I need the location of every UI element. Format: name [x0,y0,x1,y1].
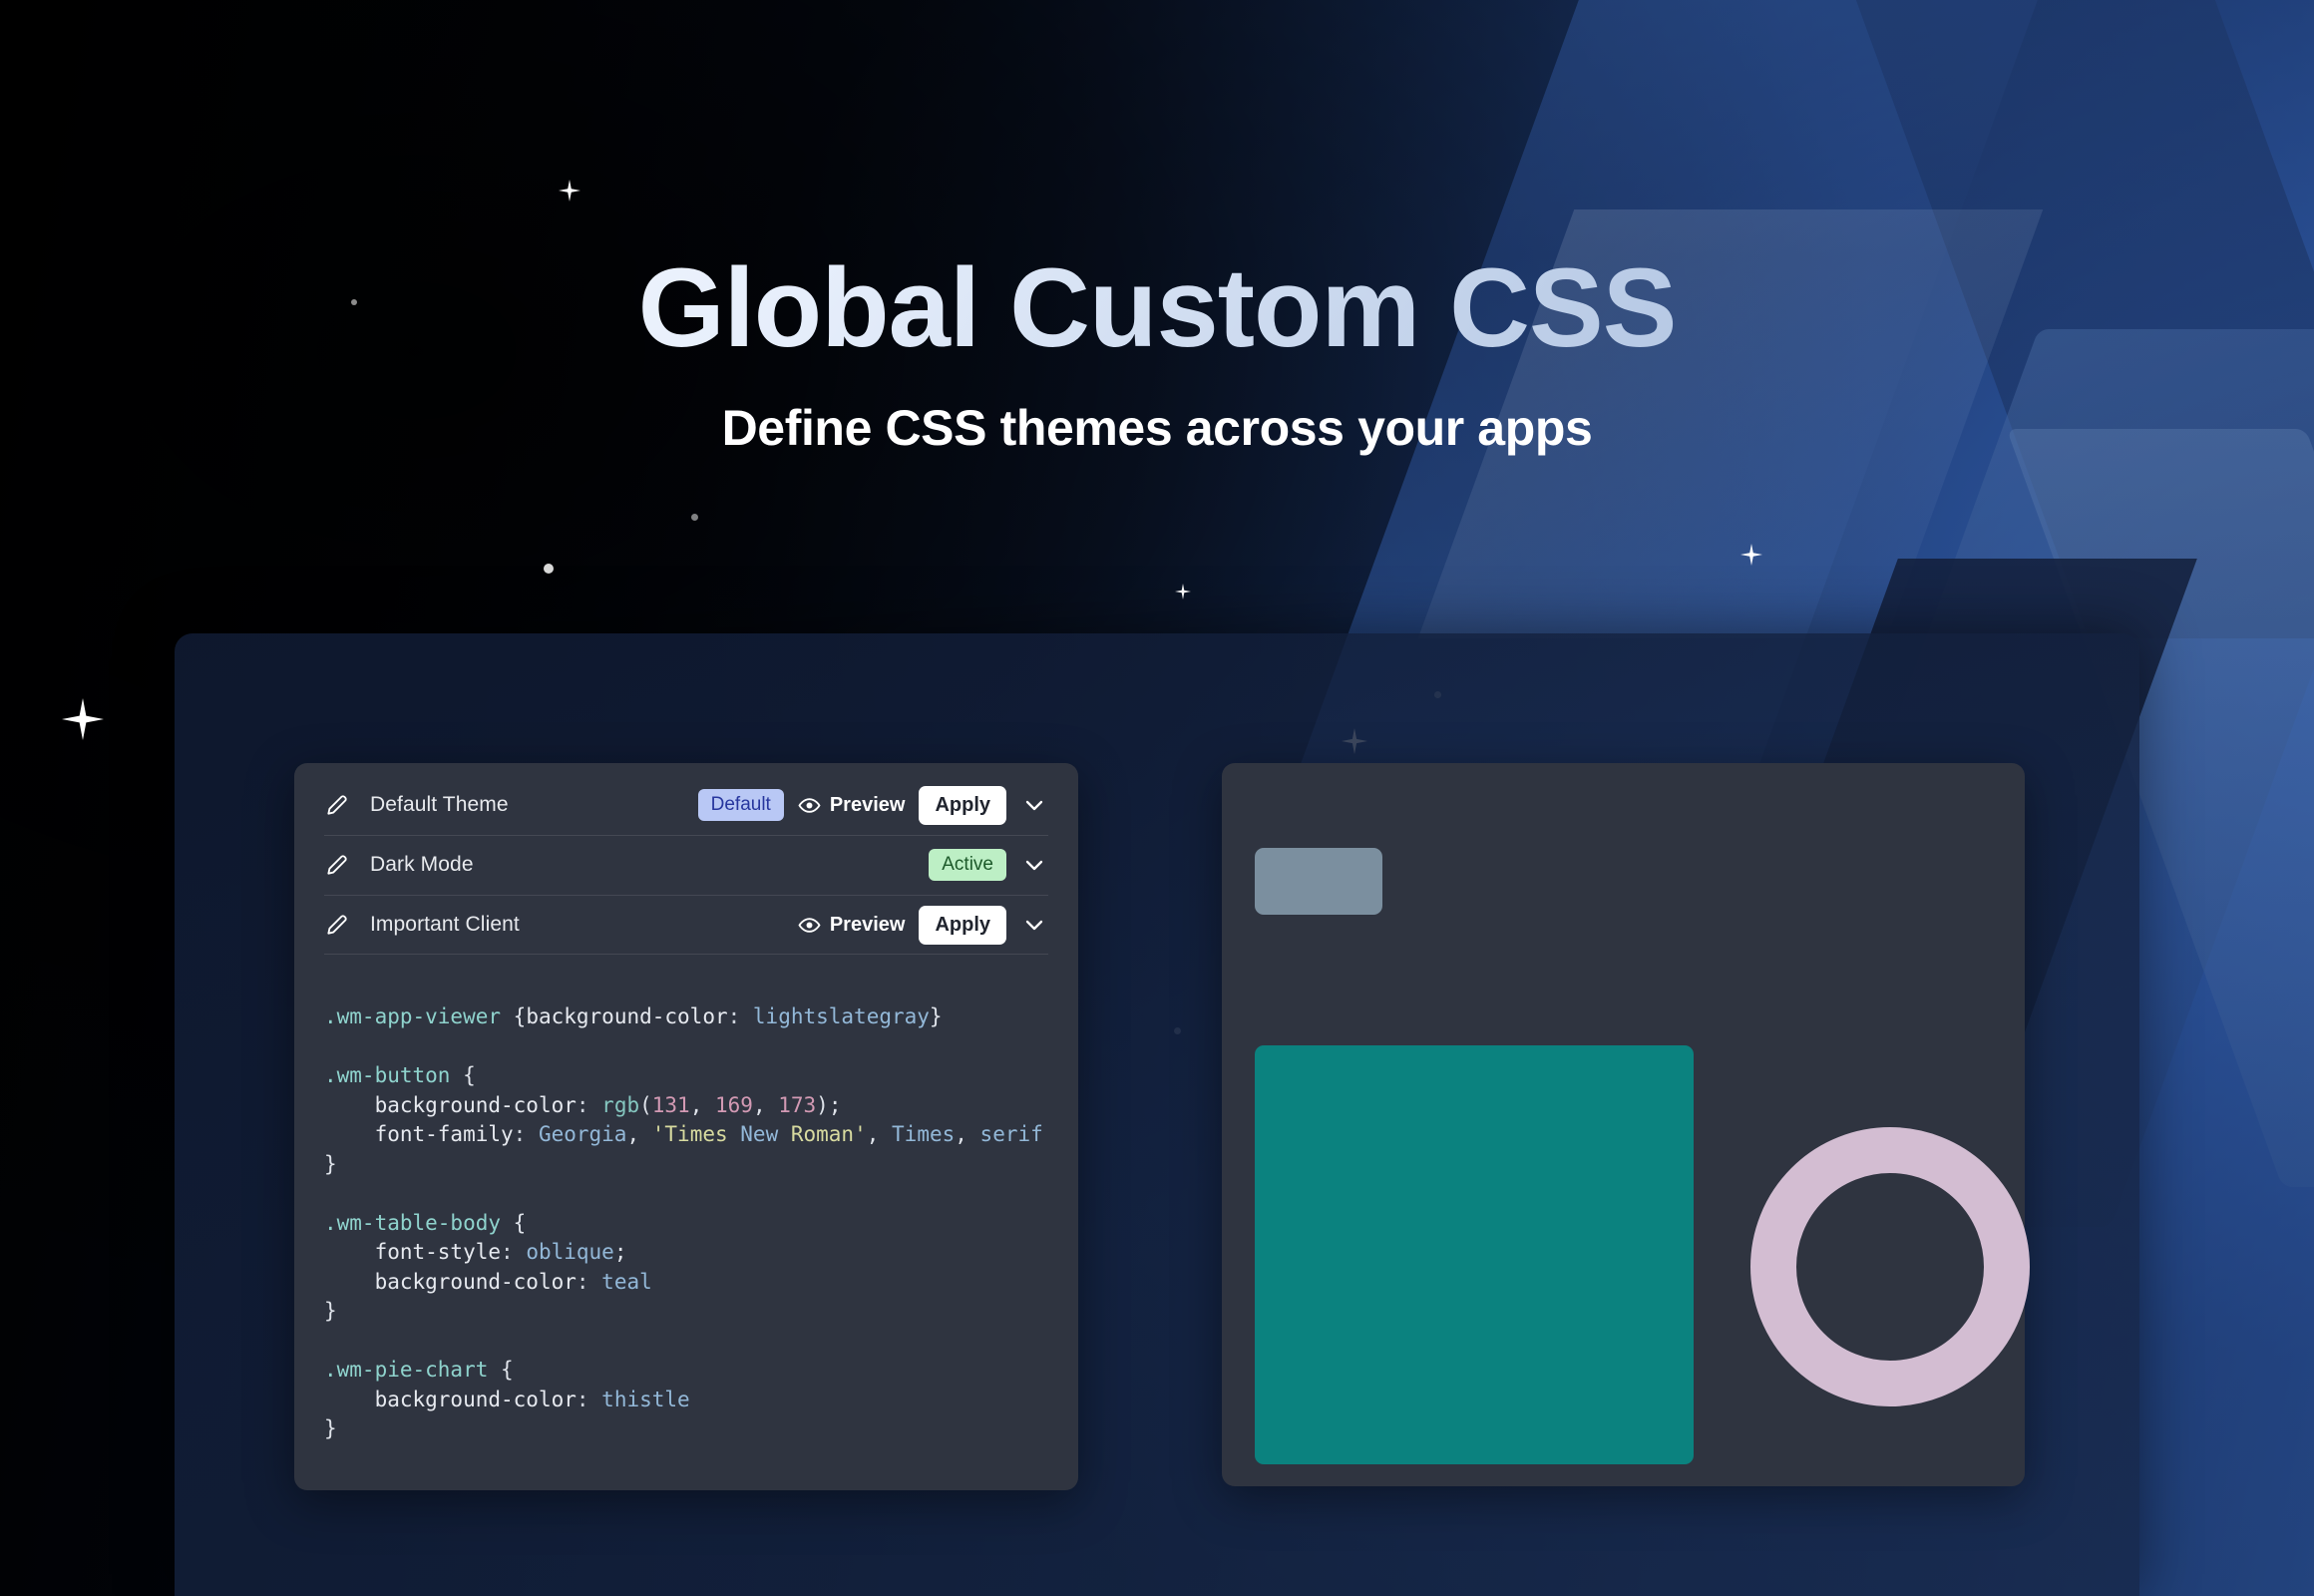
theme-name: Default Theme [370,793,698,817]
apply-button[interactable]: Apply [919,786,1006,825]
preview-button[interactable]: Preview [798,914,906,937]
status-badge: Default [698,789,784,821]
preview-sample-pie-chart [1750,1127,2030,1406]
eye-icon [798,914,821,937]
preview-button[interactable]: Preview [798,794,906,817]
row-actions: Preview Apply [798,906,1048,945]
star-dot [544,564,554,574]
star-dot [691,514,698,521]
preview-button-label: Preview [830,914,906,937]
chevron-down-icon[interactable] [1020,791,1048,819]
row-actions: Default Preview Apply [698,786,1048,825]
theme-row-dark-mode[interactable]: Dark Mode Active [310,835,1062,895]
theme-list: Default Theme Default Preview Apply [310,763,1062,955]
theme-manager-panel: Default Theme Default Preview Apply [294,763,1078,1490]
chevron-down-icon[interactable] [1020,851,1048,879]
hero-text-block: Global Custom CSS Define CSS themes acro… [0,249,2314,457]
theme-row-important-client[interactable]: Important Client Preview Apply [310,895,1062,955]
theme-name: Dark Mode [370,853,929,877]
theme-row-default-theme[interactable]: Default Theme Default Preview Apply [310,775,1062,835]
row-actions: Active [929,849,1048,881]
theme-name: Important Client [370,913,798,937]
theme-preview-panel [1222,763,2025,1486]
preview-button-label: Preview [830,794,906,817]
preview-sample-button [1255,848,1382,915]
pencil-icon[interactable] [324,792,350,818]
page-subtitle: Define CSS themes across your apps [0,399,2314,457]
page-title: Global Custom CSS [0,249,2314,367]
apply-button[interactable]: Apply [919,906,1006,945]
chevron-down-icon[interactable] [1020,911,1048,939]
eye-icon [798,794,821,817]
status-badge: Active [929,849,1006,881]
css-code-editor[interactable]: .wm-app-viewer {background-color: lights… [310,969,1062,1444]
pencil-icon[interactable] [324,912,350,938]
preview-sample-table-body [1255,1045,1694,1464]
pencil-icon[interactable] [324,852,350,878]
